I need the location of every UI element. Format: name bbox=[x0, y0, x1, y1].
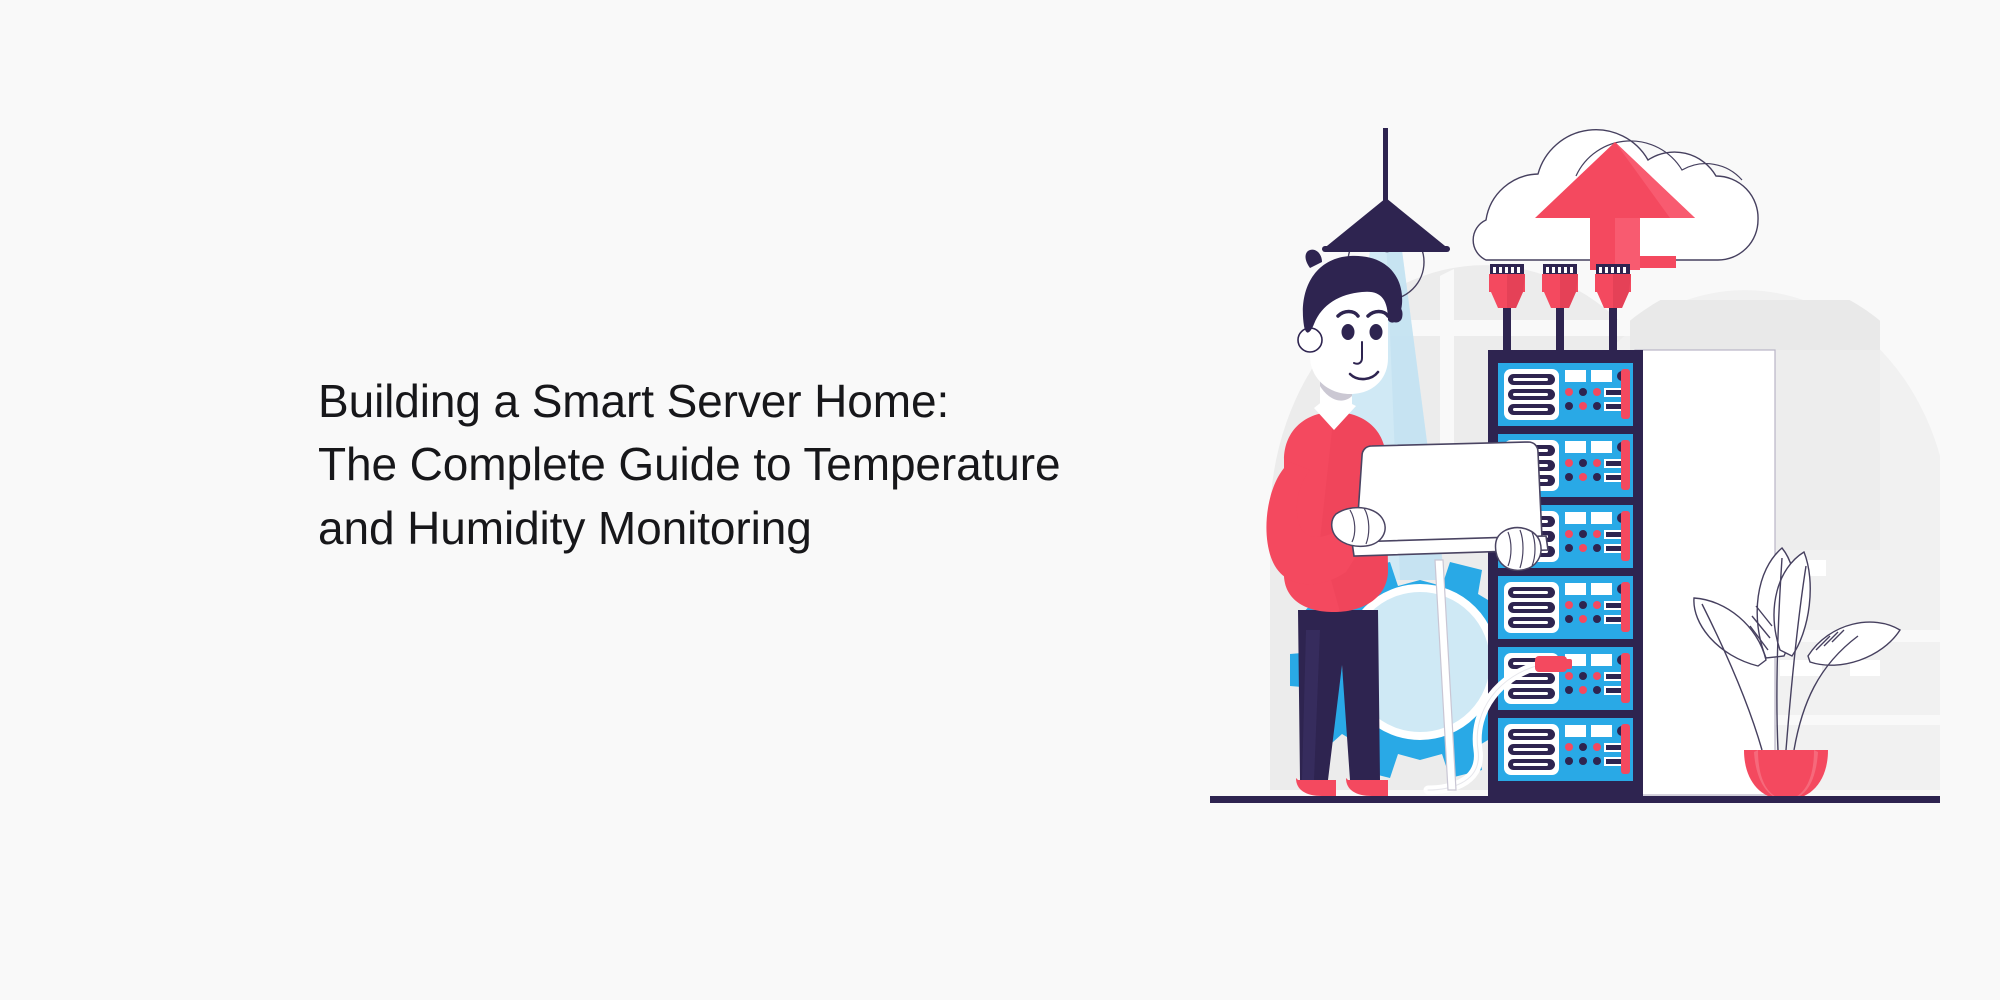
server-rack bbox=[1488, 350, 1643, 800]
floor-line bbox=[1210, 796, 1940, 803]
hand bbox=[1495, 528, 1541, 571]
hand bbox=[1332, 508, 1385, 547]
page-title: Building a Smart Server Home: The Comple… bbox=[318, 370, 1258, 560]
page-title-line-2: The Complete Guide to Temperature bbox=[318, 433, 1258, 496]
hero-banner: Building a Smart Server Home: The Comple… bbox=[0, 0, 2000, 1000]
page-title-line-3: and Humidity Monitoring bbox=[318, 497, 1258, 560]
server-unit bbox=[1498, 576, 1633, 639]
server-unit bbox=[1498, 647, 1633, 710]
server-unit bbox=[1498, 718, 1633, 781]
ethernet-connector bbox=[1595, 264, 1631, 308]
server-unit bbox=[1498, 363, 1633, 426]
page-title-line-1: Building a Smart Server Home: bbox=[318, 370, 1258, 433]
server-rack-side-panel bbox=[1635, 350, 1775, 795]
server-room-cloud-upload-illustration bbox=[1210, 90, 1940, 820]
